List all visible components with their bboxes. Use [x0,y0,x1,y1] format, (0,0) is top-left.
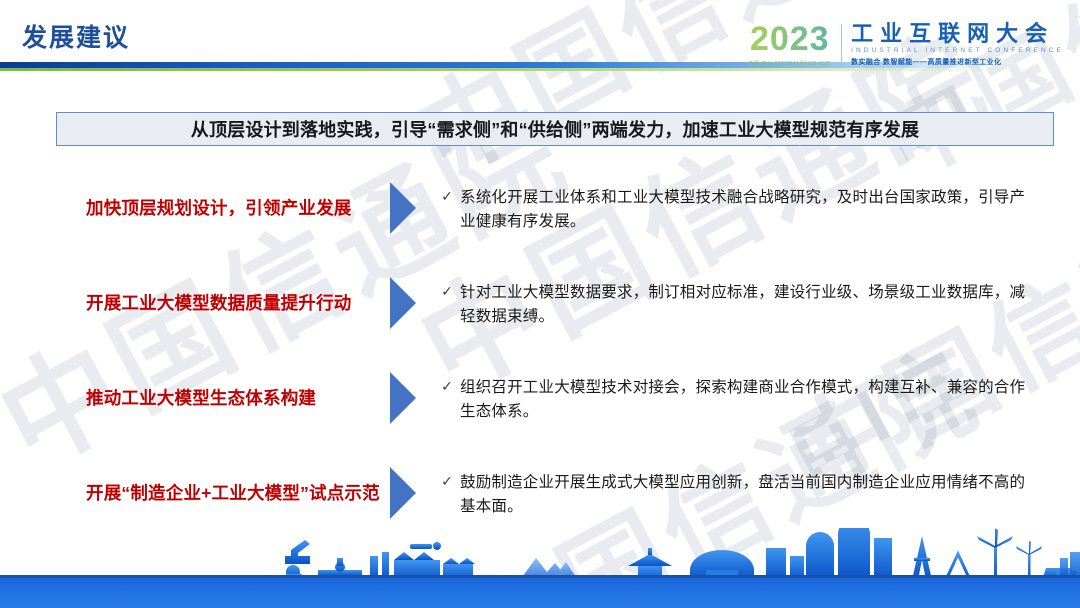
logo-year: 2023 [748,22,831,56]
arrow-right-icon [372,182,434,234]
list-item: 开展工业大模型数据质量提升行动 ✓ 针对工业大模型数据要求，制订相对应标准，建设… [0,255,1080,350]
logo-tagline: 数实融合 数智赋能——高质量推进新型工业化 [851,57,1064,67]
logo-name-block: 工业互联网大会 INDUSTRIAL INTERNET CONFERENCE 数… [851,22,1064,67]
recommendation-body: ✓ 系统化开展工业体系和工业大模型技术融合战略研究，及时出台国家政策，引导产业健… [434,182,1080,233]
recommendation-rows: 加快顶层规划设计，引领产业发展 ✓ 系统化开展工业体系和工业大模型技术融合战略研… [0,160,1080,540]
divider-green-line [0,68,1020,71]
recommendation-label: 加快顶层规划设计，引领产业发展 [0,195,372,220]
recommendation-body: ✓ 鼓励制造企业开展生成式大模型应用创新，盘活当前国内制造企业应用情绪不高的基本… [434,467,1080,518]
logo-meta: 中国·苏州 2023年11月19日-20日 [748,60,831,67]
footer-band [0,575,1080,608]
arrow-right-icon [372,277,434,329]
recommendation-label: 推动工业大模型生态体系构建 [0,385,372,410]
recommendation-text: 组织召开工业大模型技术对接会，探索构建商业合作模式，构建互补、兼容的合作生态体系… [460,376,1026,423]
conference-logo: 2023 中国·苏州 2023年11月19日-20日 工业互联网大会 INDUS… [748,22,1064,68]
headline-banner: 从顶层设计到落地实践，引导“需求侧”和“供给侧”两端发力，加速工业大模型规范有序… [56,112,1054,146]
arrow-right-icon-shape [390,277,416,329]
arrow-right-icon-shape [390,467,416,519]
recommendation-label: 开展工业大模型数据质量提升行动 [0,290,372,315]
footer [0,528,1080,608]
logo-name-en: INDUSTRIAL INTERNET CONFERENCE [851,47,1064,54]
list-item: 开展“制造企业+工业大模型”试点示范 ✓ 鼓励制造企业开展生成式大模型应用创新，… [0,445,1080,540]
check-icon: ✓ [434,471,460,493]
recommendation-body: ✓ 组织召开工业大模型技术对接会，探索构建商业合作模式，构建互补、兼容的合作生态… [434,372,1080,423]
recommendation-label: 开展“制造企业+工业大模型”试点示范 [0,480,372,505]
recommendation-body: ✓ 针对工业大模型数据要求，制订相对应标准，建设行业级、场景级工业数据库，减轻数… [434,277,1080,328]
list-item: 推动工业大模型生态体系构建 ✓ 组织召开工业大模型技术对接会，探索构建商业合作模… [0,350,1080,445]
arrow-right-icon [372,372,434,424]
check-icon: ✓ [434,186,460,208]
check-icon: ✓ [434,376,460,398]
logo-year-block: 2023 中国·苏州 2023年11月19日-20日 [748,22,841,67]
arrow-right-icon-shape [390,372,416,424]
recommendation-text: 针对工业大模型数据要求，制订相对应标准，建设行业级、场景级工业数据库，减轻数据束… [460,281,1026,328]
arrow-right-icon [372,467,434,519]
arrow-right-icon-shape [390,182,416,234]
list-item: 加快顶层规划设计，引领产业发展 ✓ 系统化开展工业体系和工业大模型技术融合战略研… [0,160,1080,255]
check-icon: ✓ [434,281,460,303]
recommendation-text: 鼓励制造企业开展生成式大模型应用创新，盘活当前国内制造企业应用情绪不高的基本面。 [460,471,1026,518]
slide-canvas: 中国信通院 中国信通院 中国信通院 中国信通院 中国信通院 中国信通院 发展建议… [0,0,1080,608]
headline-banner-text: 从顶层设计到落地实践，引导“需求侧”和“供给侧”两端发力，加速工业大模型规范有序… [191,116,919,142]
logo-separator [841,24,842,68]
recommendation-text: 系统化开展工业体系和工业大模型技术融合战略研究，及时出台国家政策，引导产业健康有… [460,186,1026,233]
page-title: 发展建议 [22,18,130,54]
logo-name-cn: 工业互联网大会 [851,22,1064,45]
